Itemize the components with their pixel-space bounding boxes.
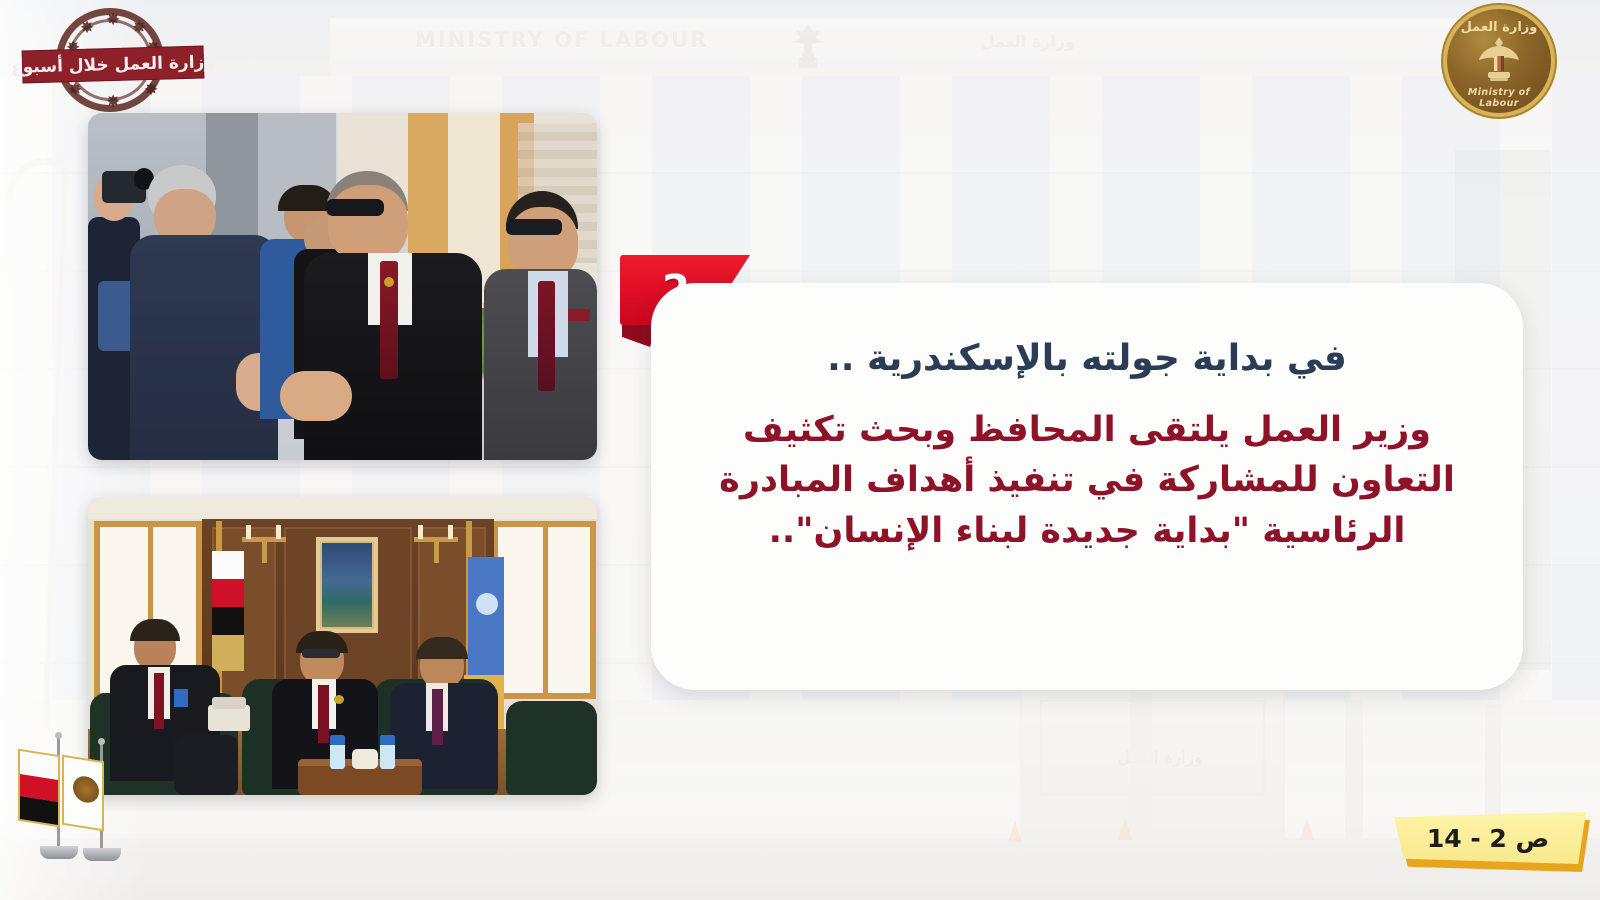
emblem-title-arabic: وزارة العمل	[1447, 20, 1551, 35]
page-tag-label: ص 2 - 14	[1390, 812, 1586, 864]
stamp-star-icon: ✸	[68, 82, 82, 99]
stamp-star-icon: ✸	[106, 94, 120, 111]
stamp-star-icon: ✸	[80, 20, 94, 37]
card-body-text: وزير العمل يلتقى المحافظ وبحث تكثيف التع…	[675, 405, 1499, 557]
headline-card: في بداية جولته بالإسكندرية .. وزير العمل…	[651, 283, 1523, 690]
emblem-title-english: Ministry of Labour	[1447, 87, 1551, 109]
handshake-photo	[88, 113, 597, 460]
meeting-photo	[88, 497, 597, 795]
eagle-of-saladin-icon	[1477, 36, 1521, 86]
stamp-star-icon: ✸	[106, 12, 120, 29]
card-content: في بداية جولته بالإسكندرية .. وزير العمل…	[675, 335, 1499, 665]
stamp-star-icon: ✸	[132, 20, 146, 37]
desk-flags-icon	[14, 718, 132, 870]
ministry-of-labour-seal-icon: وزارة العمل Ministry of Labour	[1447, 9, 1551, 113]
stamp-label: وزارة العمل خلال أسبوع	[22, 45, 205, 83]
stamp-band: وزارة العمل خلال أسبوع	[22, 45, 205, 83]
weekly-stamp-badge: ✸ ✸ ✸ ✸ ✸ ✸ ✸ ✸ وزارة العمل خلال أسبوع	[22, 6, 212, 114]
page-number-tag: ص 2 - 14	[1390, 812, 1590, 876]
card-headline: في بداية جولته بالإسكندرية ..	[675, 335, 1499, 383]
stamp-star-icon: ✸	[144, 82, 158, 99]
